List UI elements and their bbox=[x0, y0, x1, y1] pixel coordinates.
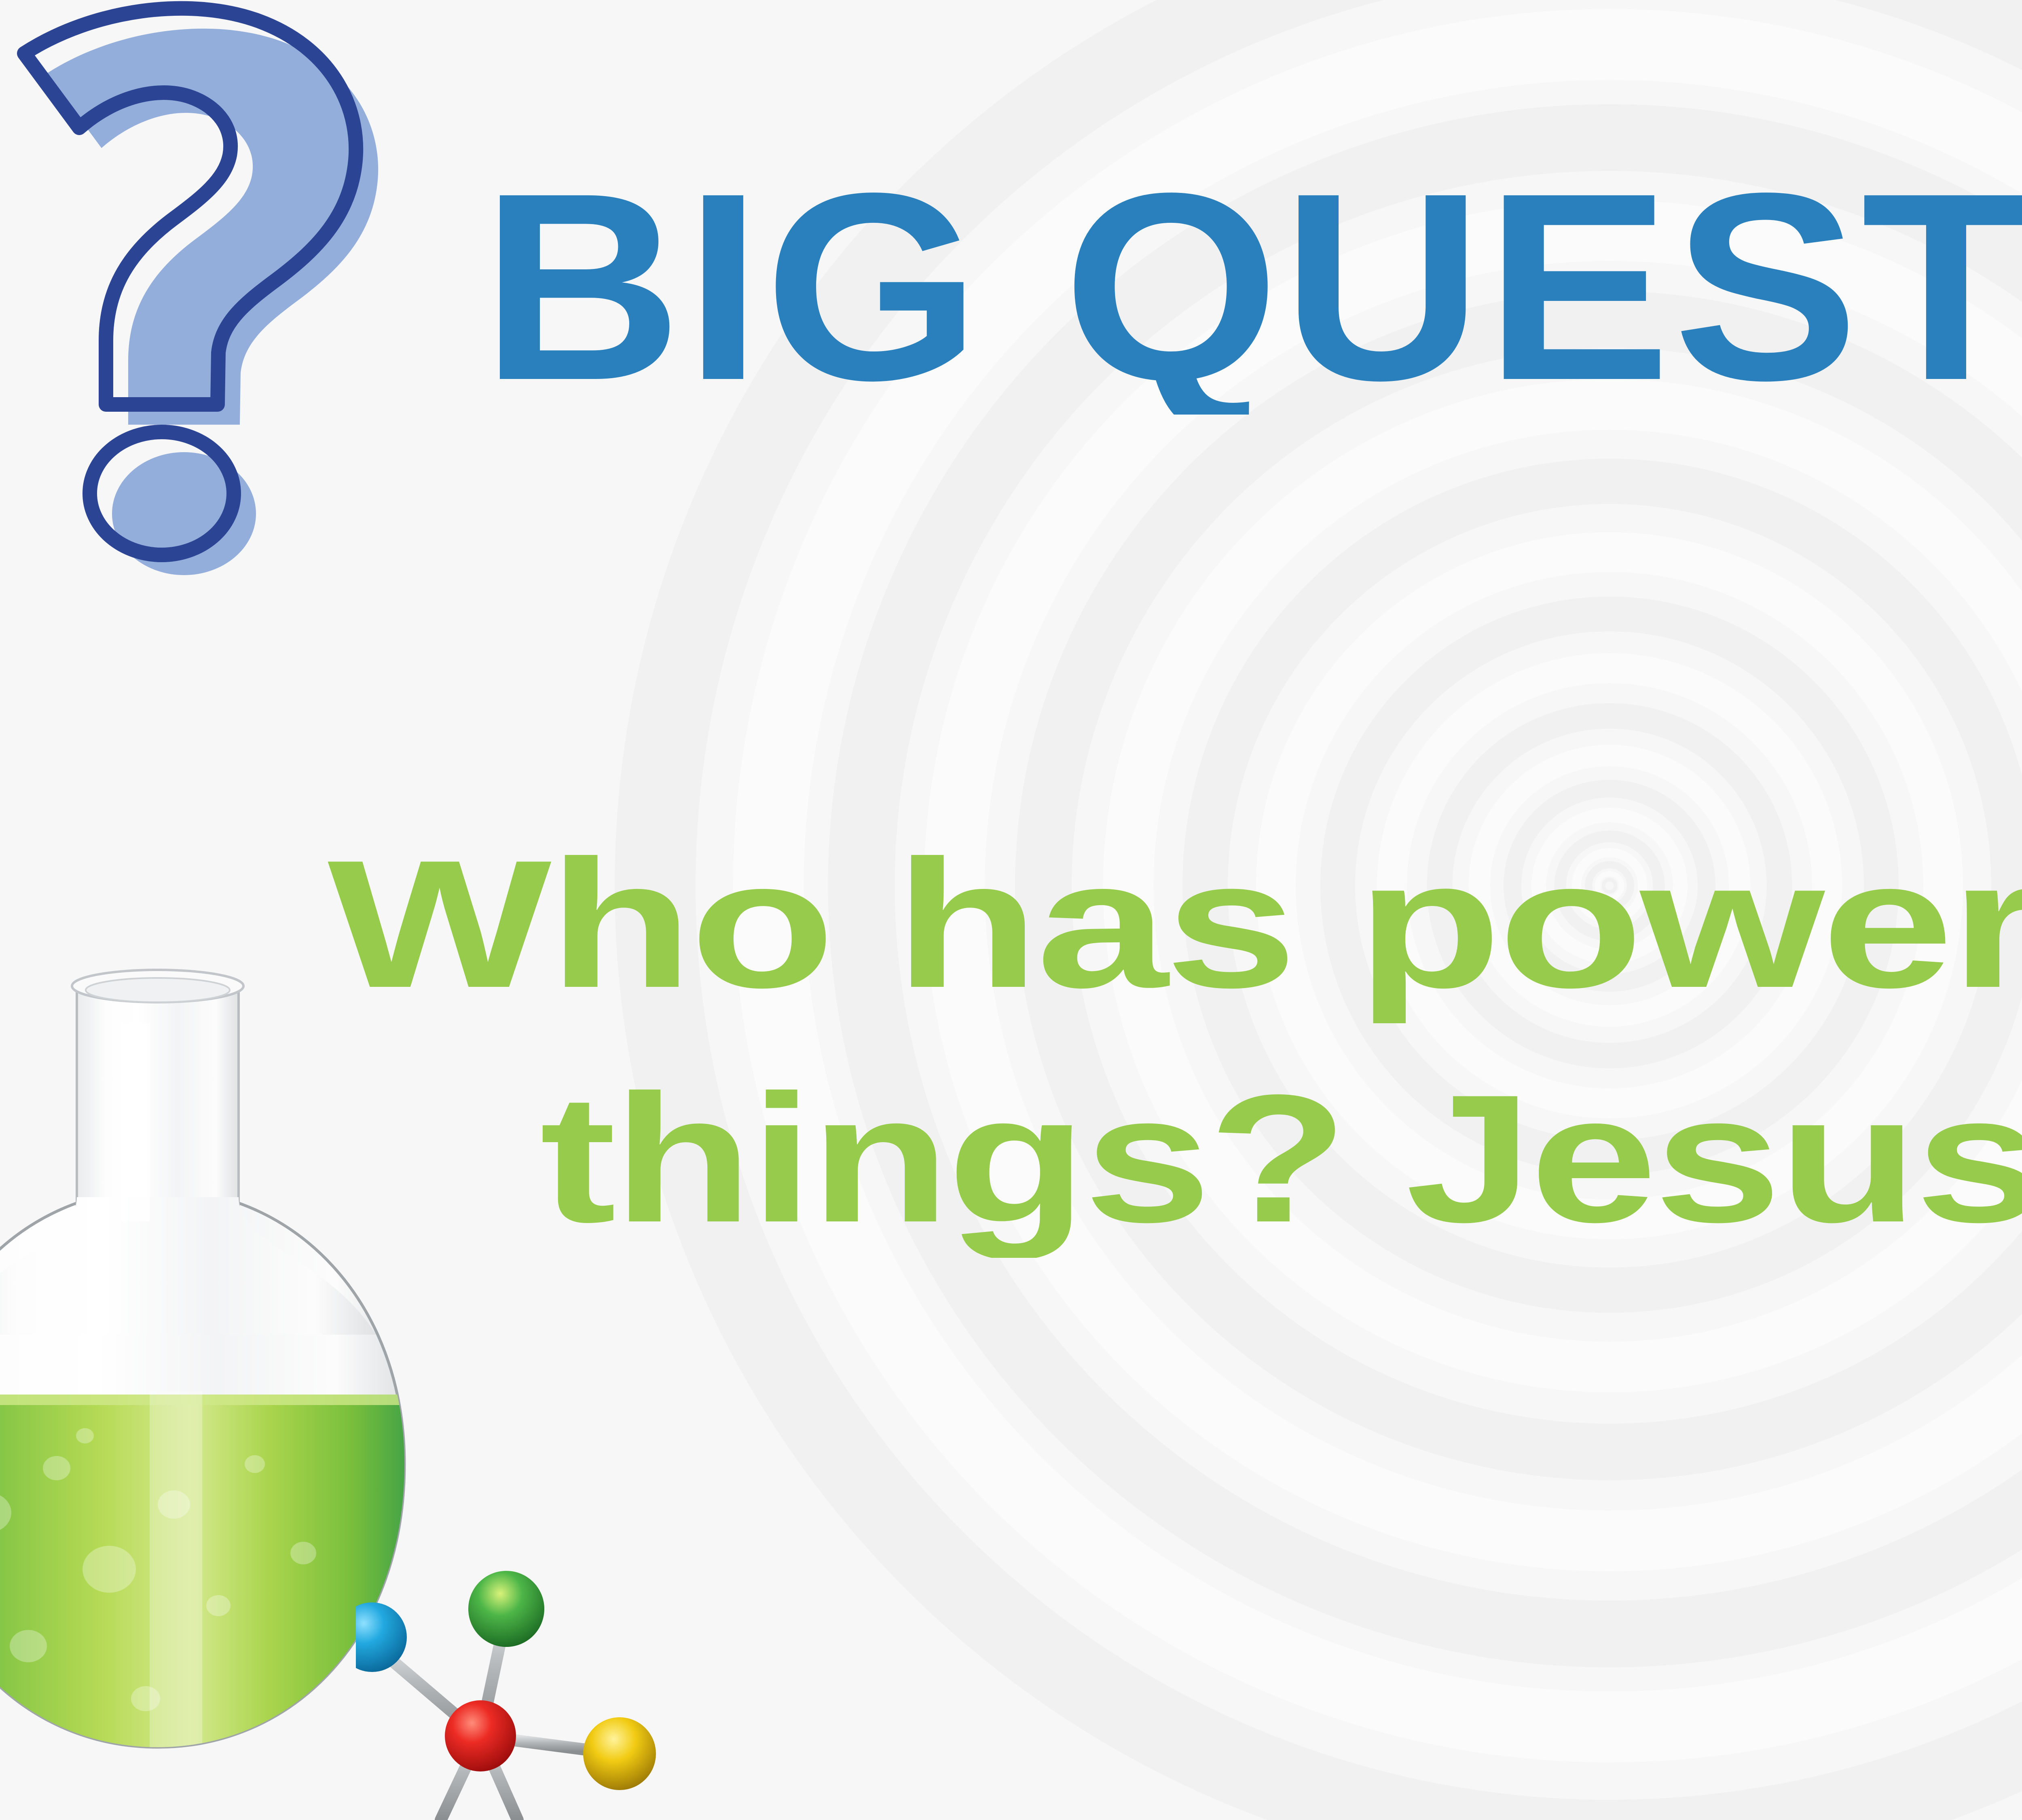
center-atom bbox=[445, 1700, 516, 1771]
big-question-slide: BIG QUESTION Who has power over all thin… bbox=[0, 0, 2022, 1820]
question-mark-icon bbox=[0, 0, 417, 566]
question-line-2-text: things? Jesus does! bbox=[540, 1068, 2022, 1258]
question-line-1-text: Who has power over all bbox=[328, 833, 2022, 1023]
yellow-atom bbox=[583, 1717, 656, 1790]
green-atom bbox=[468, 1571, 544, 1647]
molecule-model bbox=[356, 1537, 704, 1820]
page-title: BIG QUESTION bbox=[481, 172, 2022, 415]
page-title-text: BIG QUESTION bbox=[481, 172, 2022, 415]
